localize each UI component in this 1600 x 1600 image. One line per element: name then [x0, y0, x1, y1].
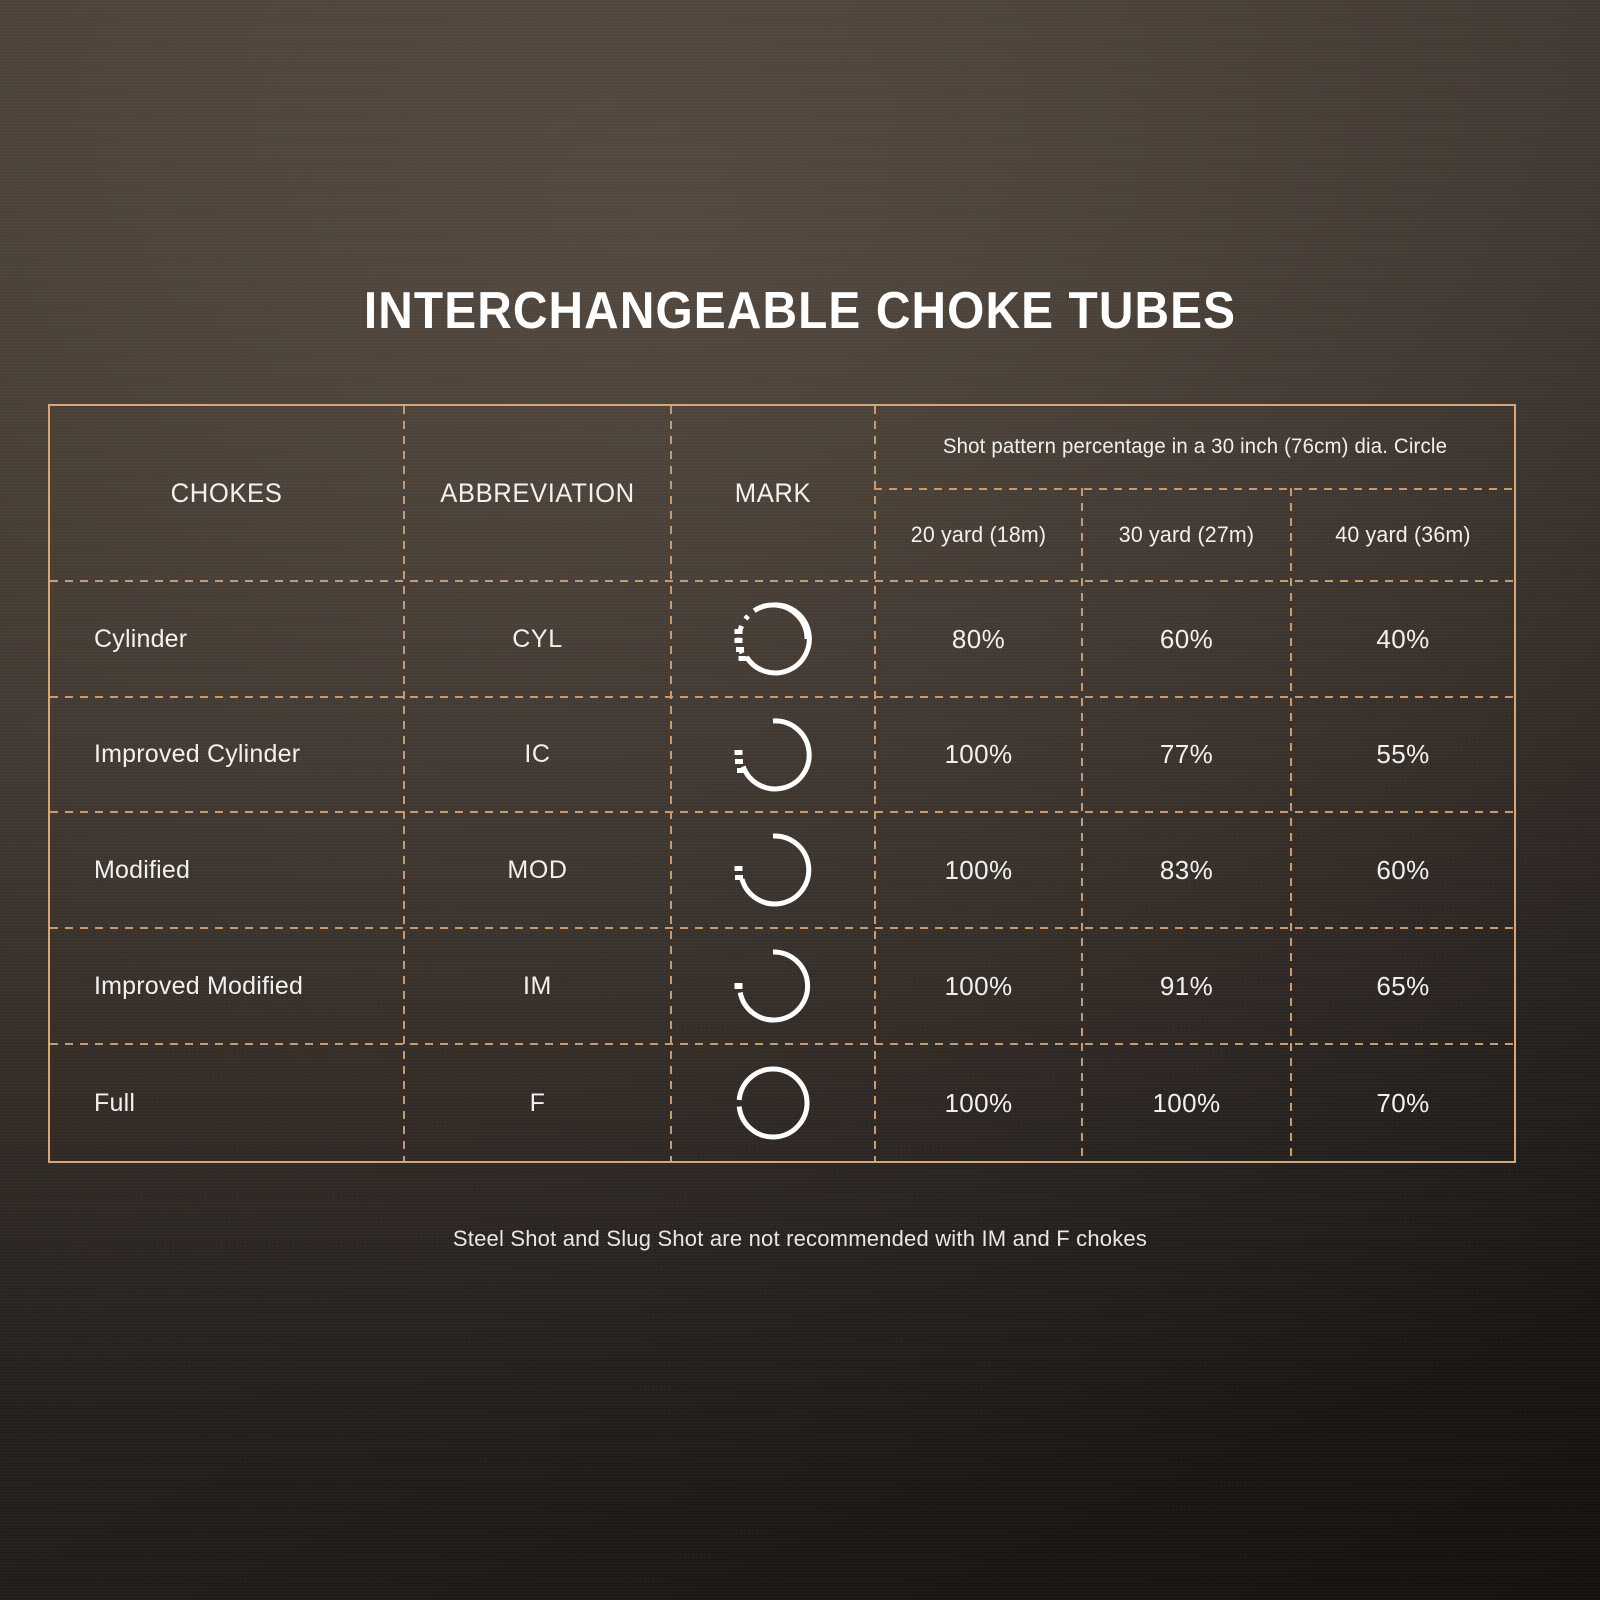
row-abbreviation: F [405, 1045, 670, 1161]
row-mark [672, 813, 874, 927]
row-mark [672, 698, 874, 811]
header-distance-40yard: 40 yard (36m) [1295, 490, 1510, 580]
header-mark: MARK [677, 406, 869, 580]
choke-tube-chart-page: INTERCHANGEABLE CHOKE TUBES CHOKES ABBRE… [0, 0, 1600, 1600]
header-abbreviation: ABBREVIATION [412, 406, 664, 580]
row-mark [672, 1045, 874, 1161]
row-choke-name: Improved Cylinder [50, 698, 403, 811]
row-pct-20yard: 100% [876, 929, 1081, 1043]
row-pct-30yard: 100% [1083, 1045, 1290, 1161]
row-mark [672, 929, 874, 1043]
circle-4-notch-icon [730, 596, 816, 682]
page-title: INTERCHANGEABLE CHOKE TUBES [64, 281, 1536, 341]
row-pct-40yard: 65% [1292, 929, 1514, 1043]
circle-3-notch-icon [730, 712, 816, 798]
row-abbreviation: IC [405, 698, 670, 811]
row-pct-20yard: 100% [876, 698, 1081, 811]
row-choke-name: Improved Modified [50, 929, 403, 1043]
circle-slot-icon [730, 1060, 816, 1146]
row-pct-20yard: 80% [876, 582, 1081, 696]
row-choke-name: Full [50, 1045, 403, 1161]
header-chokes: CHOKES [59, 406, 394, 580]
row-mark [672, 582, 874, 696]
row-pct-40yard: 70% [1292, 1045, 1514, 1161]
circle-1-notch-icon [730, 943, 816, 1029]
row-pct-20yard: 100% [876, 813, 1081, 927]
row-pct-30yard: 77% [1083, 698, 1290, 811]
row-pct-40yard: 60% [1292, 813, 1514, 927]
header-distance-30yard: 30 yard (27m) [1086, 490, 1287, 580]
row-pct-30yard: 60% [1083, 582, 1290, 696]
row-abbreviation: IM [405, 929, 670, 1043]
row-pct-20yard: 100% [876, 1045, 1081, 1161]
choke-table: CHOKES ABBREVIATION MARK Shot pattern pe… [48, 404, 1516, 1163]
row-pct-40yard: 55% [1292, 698, 1514, 811]
row-choke-name: Modified [50, 813, 403, 927]
row-pct-30yard: 91% [1083, 929, 1290, 1043]
row-choke-name: Cylinder [50, 582, 403, 696]
row-abbreviation: MOD [405, 813, 670, 927]
row-abbreviation: CYL [405, 582, 670, 696]
header-distance-20yard: 20 yard (18m) [879, 490, 1078, 580]
row-pct-40yard: 40% [1292, 582, 1514, 696]
footer-note: Steel Shot and Slug Shot are not recomme… [0, 1226, 1600, 1252]
circle-2-notch-icon [730, 827, 816, 913]
row-pct-30yard: 83% [1083, 813, 1290, 927]
header-group-shot-pattern: Shot pattern percentage in a 30 inch (76… [886, 406, 1505, 488]
